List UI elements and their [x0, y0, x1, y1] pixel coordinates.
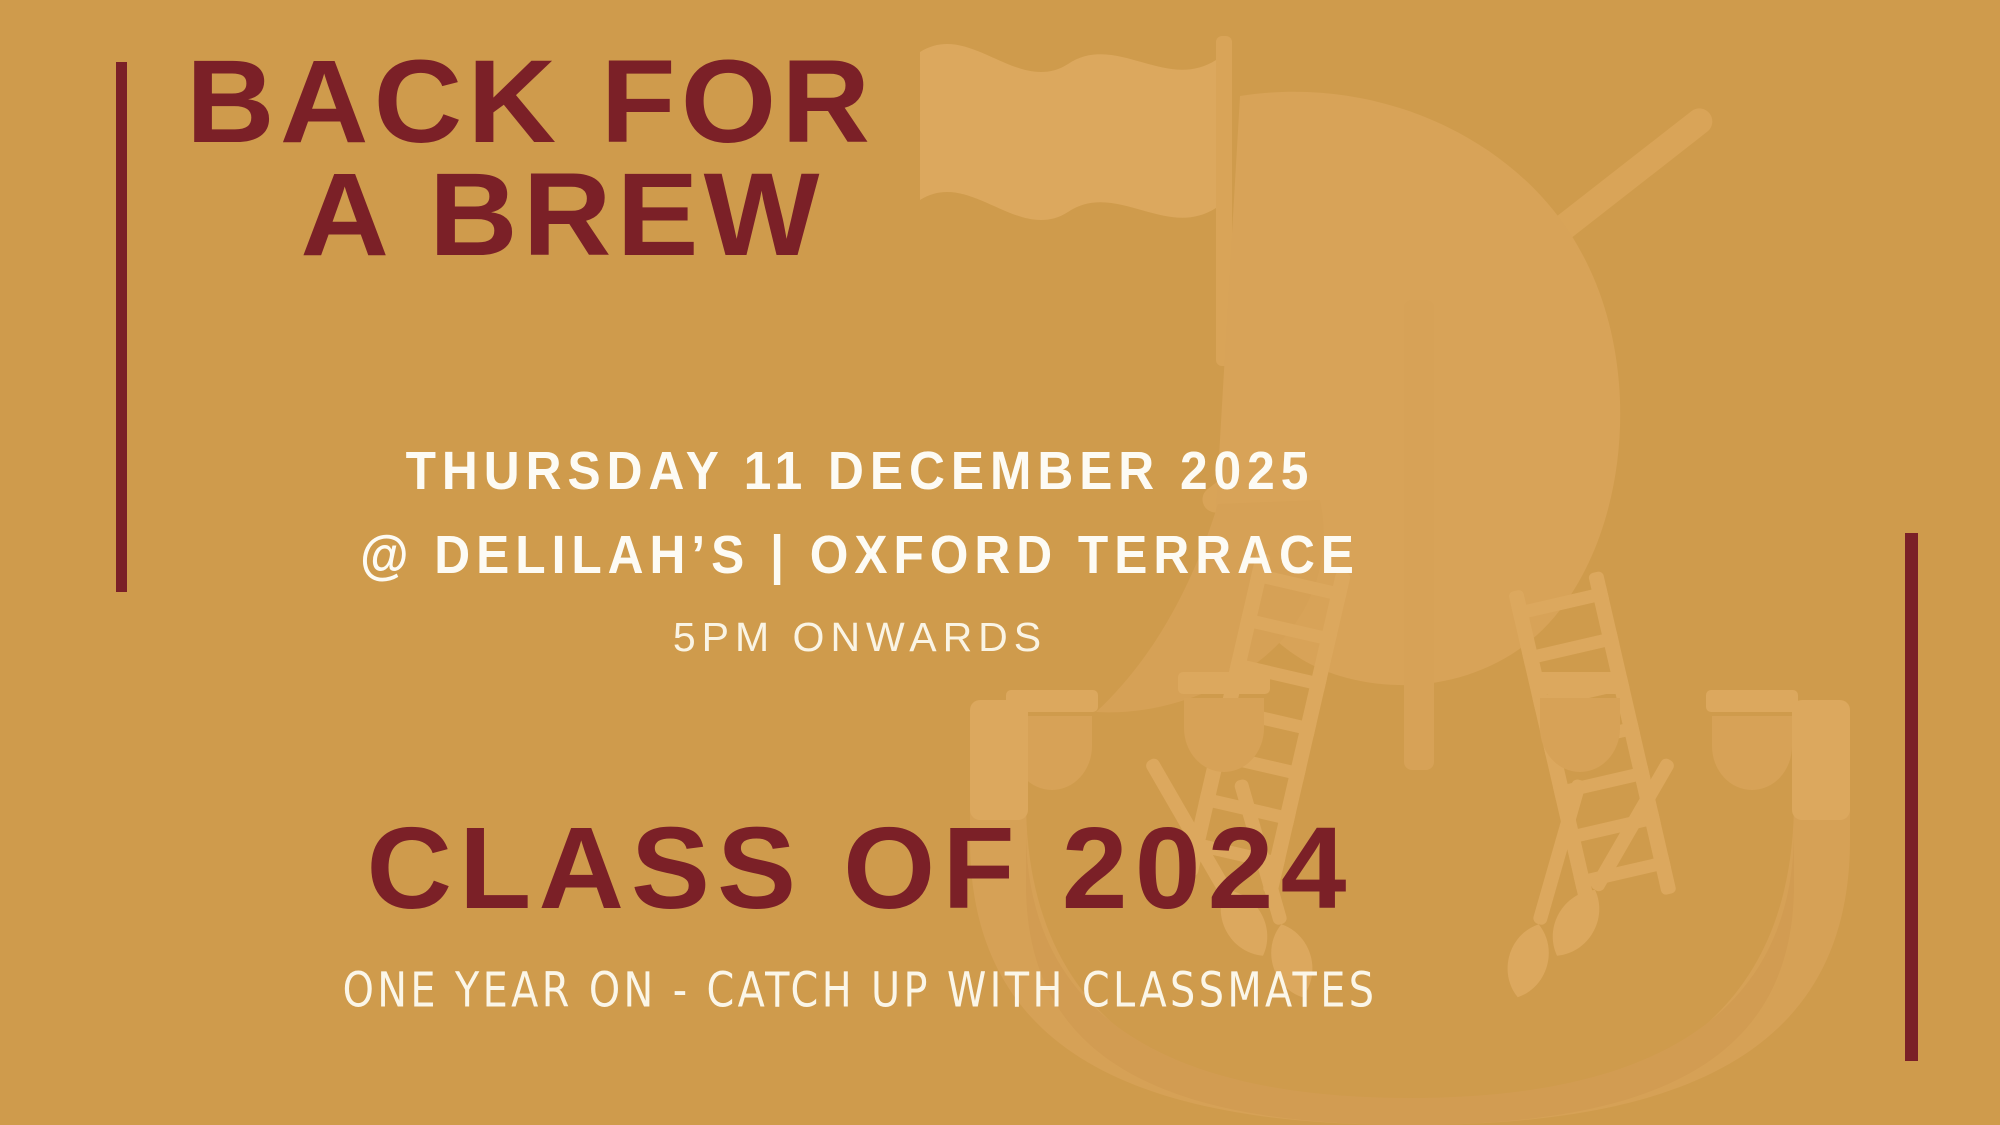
crest-flagpole	[1216, 36, 1232, 366]
event-time: 5PM ONWARDS	[0, 614, 1720, 661]
class-block: CLASS OF 2024 ONE YEAR ON - CATCH UP WIT…	[0, 810, 1720, 1014]
event-venue: @ DELILAH’S | OXFORD TERRACE	[69, 524, 1651, 586]
crest-pennant	[920, 44, 1216, 220]
event-poster: BACK FOR A BREW THURSDAY 11 DECEMBER 202…	[0, 0, 2000, 1125]
headline-block: BACK FOR A BREW	[186, 46, 849, 273]
class-of-title: CLASS OF 2024	[0, 810, 1737, 926]
headline-line-2: A BREW	[186, 159, 875, 272]
right-accent-bar	[1905, 533, 1918, 1061]
event-date: THURSDAY 11 DECEMBER 2025	[69, 440, 1651, 502]
crest-shields	[1006, 672, 1798, 790]
headline-line-1: BACK FOR	[186, 46, 875, 159]
class-tagline: ONE YEAR ON - CATCH UP WITH CLASSMATES	[26, 962, 1694, 1019]
crest-bow-post	[970, 700, 1028, 820]
event-details-block: THURSDAY 11 DECEMBER 2025 @ DELILAH’S | …	[0, 440, 1720, 661]
crest-stern-post	[1792, 700, 1850, 820]
